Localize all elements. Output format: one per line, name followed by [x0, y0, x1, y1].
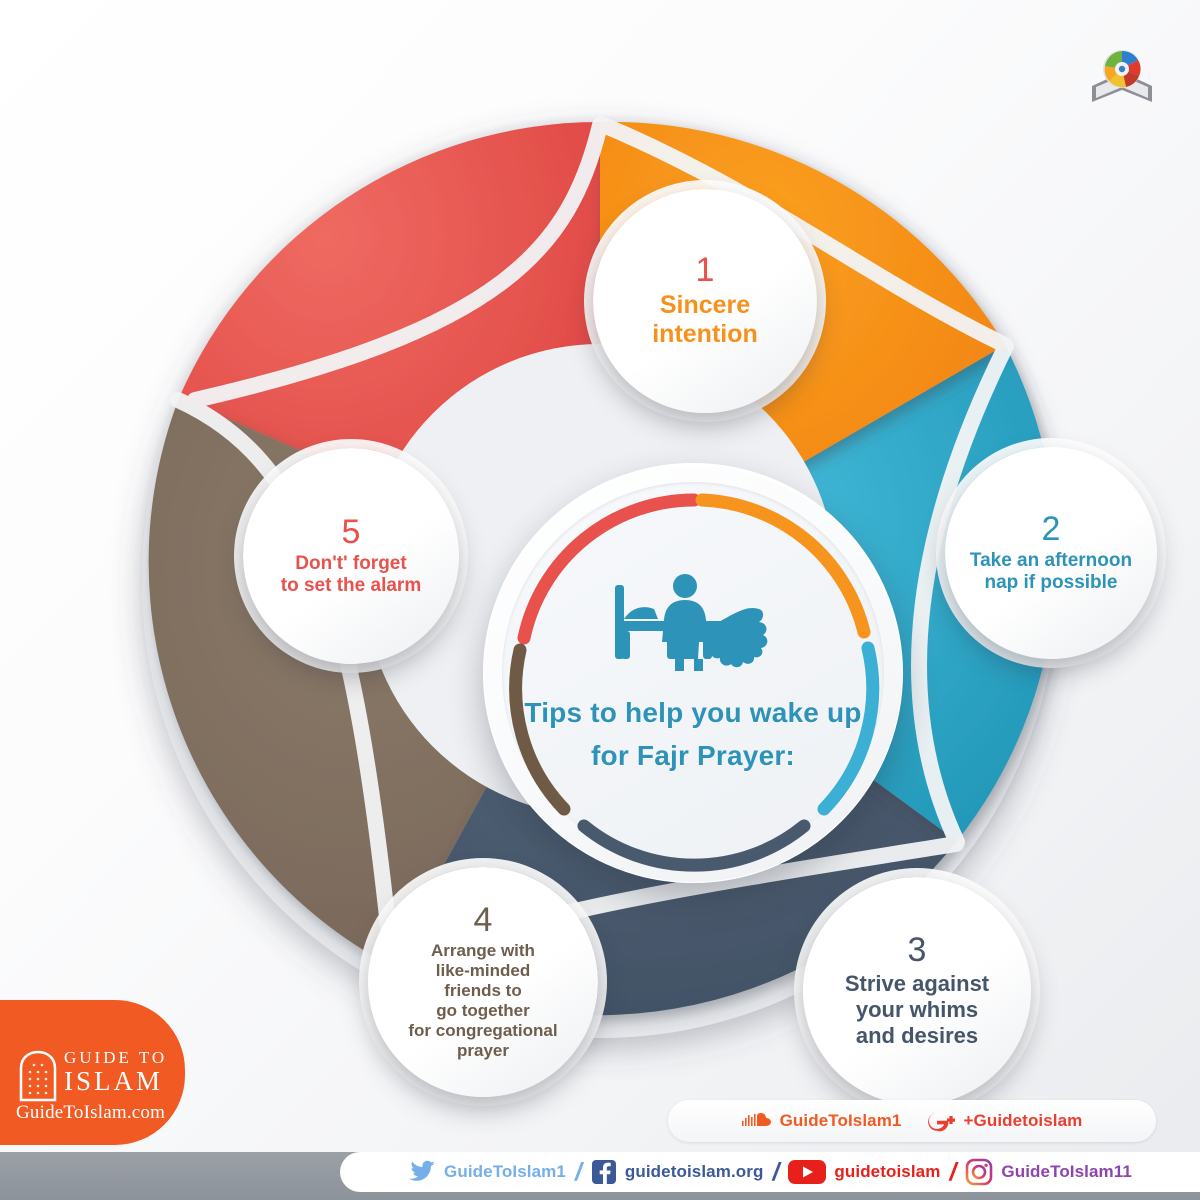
soundcloud-icon [742, 1112, 772, 1130]
step-5-line2: to set the alarm [281, 575, 421, 597]
step-3-line2: your whims [845, 997, 989, 1023]
step-2-line1: Take an afternoon [970, 550, 1132, 572]
step-1-line1: Sincere [652, 291, 758, 320]
step-4-line6: prayer [408, 1041, 557, 1061]
google-plus-icon [927, 1110, 955, 1132]
step-3-text: Strive against your whims and desires [835, 971, 999, 1048]
person-waking-up-in-bed-icon [599, 565, 787, 675]
step-2-number: 2 [1042, 512, 1061, 546]
badge-url[interactable]: GuideToIslam.com [16, 1102, 185, 1124]
badge-text: GUIDE TO ISLAM GuideToIslam.com [16, 1048, 185, 1124]
instagram-label: GuideToIslam11 [1001, 1162, 1132, 1182]
step-5-text: Don't' forget to set the alarm [271, 553, 431, 597]
badge-line2: ISLAM [64, 1068, 185, 1095]
social-facebook[interactable]: guidetoislam.org [591, 1159, 764, 1185]
youtube-icon [788, 1159, 826, 1185]
separator-1: / [575, 1158, 582, 1187]
facebook-label: guidetoislam.org [625, 1162, 764, 1182]
step-4-line4: go together [408, 1001, 557, 1021]
step-4-line5: for congregational [408, 1021, 557, 1041]
badge-line1: GUIDE TO [64, 1048, 185, 1068]
step-3-number: 3 [908, 933, 927, 967]
step-5-line1: Don't' forget [281, 553, 421, 575]
separator-2: / [772, 1158, 779, 1187]
step-2-line2: nap if possible [970, 572, 1132, 594]
step-4-number: 4 [474, 903, 493, 937]
center-title-line2: for Fajr Prayer: [524, 734, 861, 777]
step-4-line1: Arrange with [408, 941, 557, 961]
step-1-text: Sincere intention [642, 291, 768, 350]
center-title: Tips to help you wake up for Fajr Prayer… [524, 691, 861, 778]
separator-3: / [949, 1158, 956, 1187]
social-twitter[interactable]: GuideToIslam1 [408, 1160, 566, 1184]
center-title-line1: Tips to help you wake up [524, 691, 861, 734]
step-bubble-5[interactable]: 5 Don't' forget to set the alarm [243, 448, 459, 664]
step-1-line2: intention [652, 320, 758, 349]
step-bubble-4[interactable]: 4 Arrange with like-minded friends to go… [368, 867, 598, 1097]
social-pill-upper: GuideToIslam1 +Guidetoislam [668, 1100, 1156, 1142]
googleplus-label: +Guidetoislam [963, 1111, 1082, 1131]
social-instagram[interactable]: GuideToIslam11 [965, 1158, 1132, 1186]
step-4-text: Arrange with like-minded friends to go t… [398, 941, 567, 1060]
step-bubble-3[interactable]: 3 Strive against your whims and desires [803, 877, 1031, 1105]
instagram-icon [965, 1158, 993, 1186]
step-4-line3: friends to [408, 981, 557, 1001]
tips-wheel: Tips to help you wake up for Fajr Prayer… [100, 80, 1100, 1080]
step-1-number: 1 [696, 253, 715, 287]
facebook-icon [591, 1159, 617, 1185]
brand-badge[interactable]: GUIDE TO ISLAM GuideToIslam.com [0, 1000, 185, 1145]
social-pill-lower: GuideToIslam1 / guidetoislam.org / guide… [340, 1152, 1200, 1192]
soundcloud-label: GuideToIslam1 [780, 1111, 902, 1131]
step-3-line1: Strive against [845, 971, 989, 997]
youtube-label: guidetoislam [834, 1162, 940, 1182]
twitter-label: GuideToIslam1 [444, 1162, 566, 1182]
step-3-line3: and desires [845, 1023, 989, 1049]
step-5-number: 5 [342, 515, 361, 549]
step-bubble-1[interactable]: 1 Sincere intention [593, 189, 817, 413]
social-googleplus[interactable]: +Guidetoislam [927, 1110, 1082, 1132]
center-inner: Tips to help you wake up for Fajr Prayer… [502, 482, 884, 864]
step-bubble-2[interactable]: 2 Take an afternoon nap if possible [945, 447, 1157, 659]
social-soundcloud[interactable]: GuideToIslam1 [742, 1111, 902, 1131]
twitter-icon [408, 1160, 436, 1184]
step-2-text: Take an afternoon nap if possible [960, 550, 1142, 594]
social-youtube[interactable]: guidetoislam [788, 1159, 940, 1185]
step-4-line2: like-minded [408, 961, 557, 981]
center-disc: Tips to help you wake up for Fajr Prayer… [483, 463, 903, 883]
